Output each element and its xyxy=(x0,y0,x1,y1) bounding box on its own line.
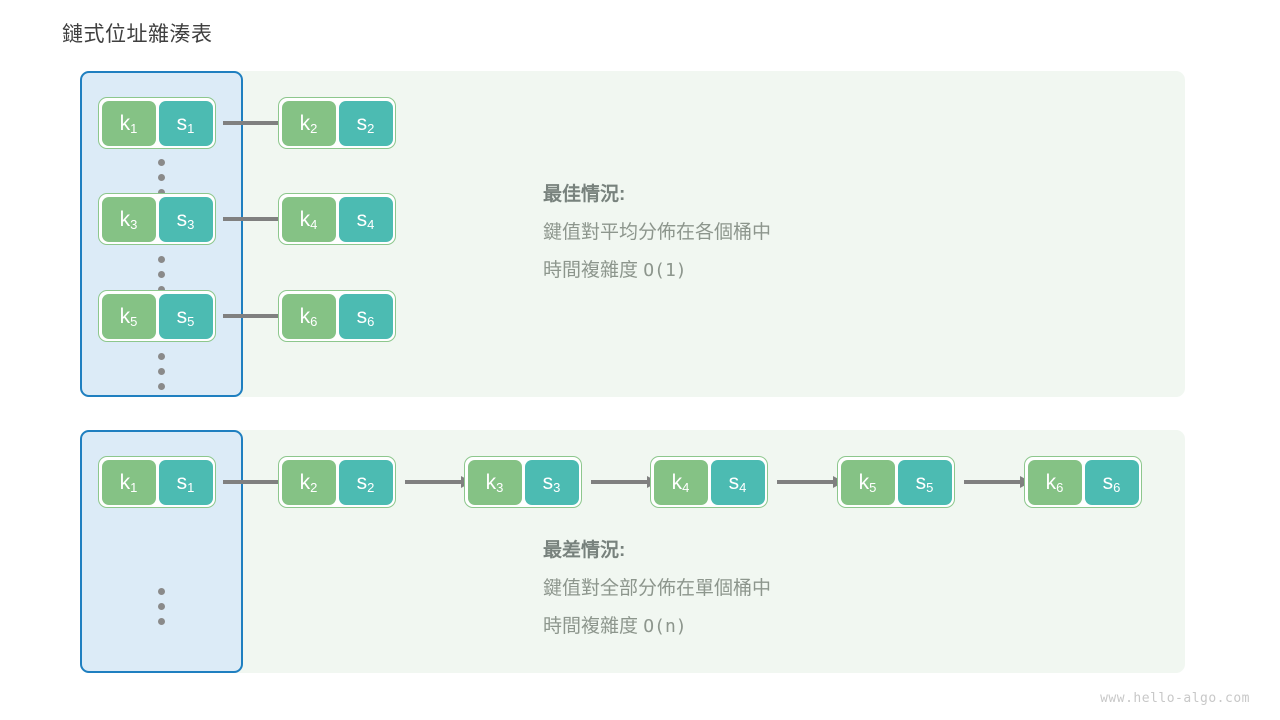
page-title: 鏈式位址雜湊表 xyxy=(62,18,213,48)
value-subscript: 1 xyxy=(187,481,194,494)
key-label: k xyxy=(120,209,131,230)
key-cell: k4 xyxy=(654,460,708,505)
value-cell: s4 xyxy=(339,197,393,242)
value-label: s xyxy=(916,472,927,493)
complexity-label: 時間複雜度 xyxy=(543,616,638,637)
bucket-node-3[interactable]: k5 s5 xyxy=(98,290,216,342)
value-subscript: 1 xyxy=(187,122,194,135)
key-cell: k2 xyxy=(282,101,336,146)
value-subscript: 2 xyxy=(367,481,374,494)
key-label: k xyxy=(1046,472,1057,493)
key-subscript: 3 xyxy=(130,218,137,231)
key-cell: k5 xyxy=(841,460,895,505)
value-label: s xyxy=(543,472,554,493)
key-label: k xyxy=(120,472,131,493)
value-label: s xyxy=(177,306,188,327)
best-case-caption: 最佳情況: 鍵值對平均分佈在各個桶中 時間複雜度 O(1) xyxy=(543,176,771,290)
value-label: s xyxy=(729,472,740,493)
worst-node-6[interactable]: k6 s6 xyxy=(1024,456,1142,508)
key-cell: k1 xyxy=(102,460,156,505)
key-cell: k2 xyxy=(282,460,336,505)
key-subscript: 2 xyxy=(310,122,317,135)
key-label: k xyxy=(300,113,311,134)
value-label: s xyxy=(357,113,368,134)
key-subscript: 3 xyxy=(496,481,503,494)
value-label: s xyxy=(177,209,188,230)
key-label: k xyxy=(486,472,497,493)
worst-case-caption: 最差情況: 鍵值對全部分佈在單個桶中 時間複雜度 O(n) xyxy=(543,532,771,646)
key-subscript: 2 xyxy=(310,481,317,494)
key-cell: k3 xyxy=(102,197,156,242)
key-subscript: 4 xyxy=(682,481,689,494)
value-label: s xyxy=(177,472,188,493)
chain-node-2-1[interactable]: k4 s4 xyxy=(278,193,396,245)
key-label: k xyxy=(300,472,311,493)
key-cell: k1 xyxy=(102,101,156,146)
worst-arrow-4 xyxy=(777,476,844,488)
key-subscript: 1 xyxy=(130,122,137,135)
value-cell: s6 xyxy=(1085,460,1139,505)
value-subscript: 5 xyxy=(187,315,194,328)
value-cell: s4 xyxy=(711,460,765,505)
bucket-ellipsis-1 xyxy=(158,159,165,196)
value-subscript: 6 xyxy=(367,315,374,328)
key-subscript: 6 xyxy=(310,315,317,328)
value-cell: s1 xyxy=(159,101,213,146)
value-cell: s6 xyxy=(339,294,393,339)
value-subscript: 4 xyxy=(739,481,746,494)
key-label: k xyxy=(300,306,311,327)
key-subscript: 5 xyxy=(869,481,876,494)
complexity-label: 時間複雜度 xyxy=(543,260,638,281)
complexity-value: O(1) xyxy=(643,260,686,281)
key-label: k xyxy=(300,209,311,230)
worst-node-2[interactable]: k2 s2 xyxy=(278,456,396,508)
value-cell: s1 xyxy=(159,460,213,505)
worst-arrow-5 xyxy=(964,476,1031,488)
value-label: s xyxy=(357,472,368,493)
key-subscript: 5 xyxy=(130,315,137,328)
key-cell: k6 xyxy=(282,294,336,339)
bucket-node-1[interactable]: k1 s1 xyxy=(98,97,216,149)
value-cell: s2 xyxy=(339,101,393,146)
caption-heading: 最差情況: xyxy=(543,532,771,570)
caption-line-1: 鍵值對全部分佈在單個桶中 xyxy=(543,570,771,608)
worst-node-4[interactable]: k4 s4 xyxy=(650,456,768,508)
key-label: k xyxy=(859,472,870,493)
value-subscript: 3 xyxy=(553,481,560,494)
key-cell: k5 xyxy=(102,294,156,339)
bucket-ellipsis-3 xyxy=(158,353,165,390)
value-cell: s3 xyxy=(525,460,579,505)
value-subscript: 6 xyxy=(1113,481,1120,494)
worst-arrow-2 xyxy=(405,476,472,488)
caption-heading: 最佳情況: xyxy=(543,176,771,214)
bucket-node-2[interactable]: k3 s3 xyxy=(98,193,216,245)
chain-node-1-1[interactable]: k2 s2 xyxy=(278,97,396,149)
key-subscript: 4 xyxy=(310,218,317,231)
bucket-ellipsis-2 xyxy=(158,256,165,293)
value-label: s xyxy=(357,209,368,230)
value-label: s xyxy=(1103,472,1114,493)
key-cell: k3 xyxy=(468,460,522,505)
chain-node-3-1[interactable]: k6 s6 xyxy=(278,290,396,342)
worst-node-1[interactable]: k1 s1 xyxy=(98,456,216,508)
site-watermark: www.hello-algo.com xyxy=(1100,691,1250,706)
value-subscript: 4 xyxy=(367,218,374,231)
worst-node-3[interactable]: k3 s3 xyxy=(464,456,582,508)
value-cell: s3 xyxy=(159,197,213,242)
value-subscript: 2 xyxy=(367,122,374,135)
bucket-ellipsis-worst xyxy=(158,588,165,625)
key-label: k xyxy=(120,306,131,327)
caption-line-1: 鍵值對平均分佈在各個桶中 xyxy=(543,214,771,252)
key-cell: k6 xyxy=(1028,460,1082,505)
key-label: k xyxy=(120,113,131,134)
value-subscript: 5 xyxy=(926,481,933,494)
caption-line-2: 時間複雜度 O(1) xyxy=(543,252,771,290)
value-cell: s5 xyxy=(159,294,213,339)
worst-arrow-3 xyxy=(591,476,658,488)
key-subscript: 1 xyxy=(130,481,137,494)
key-label: k xyxy=(672,472,683,493)
key-cell: k4 xyxy=(282,197,336,242)
value-cell: s5 xyxy=(898,460,952,505)
value-label: s xyxy=(357,306,368,327)
caption-line-2: 時間複雜度 O(n) xyxy=(543,608,771,646)
value-subscript: 3 xyxy=(187,218,194,231)
complexity-value: O(n) xyxy=(643,616,686,637)
value-cell: s2 xyxy=(339,460,393,505)
key-subscript: 6 xyxy=(1056,481,1063,494)
value-label: s xyxy=(177,113,188,134)
worst-node-5[interactable]: k5 s5 xyxy=(837,456,955,508)
